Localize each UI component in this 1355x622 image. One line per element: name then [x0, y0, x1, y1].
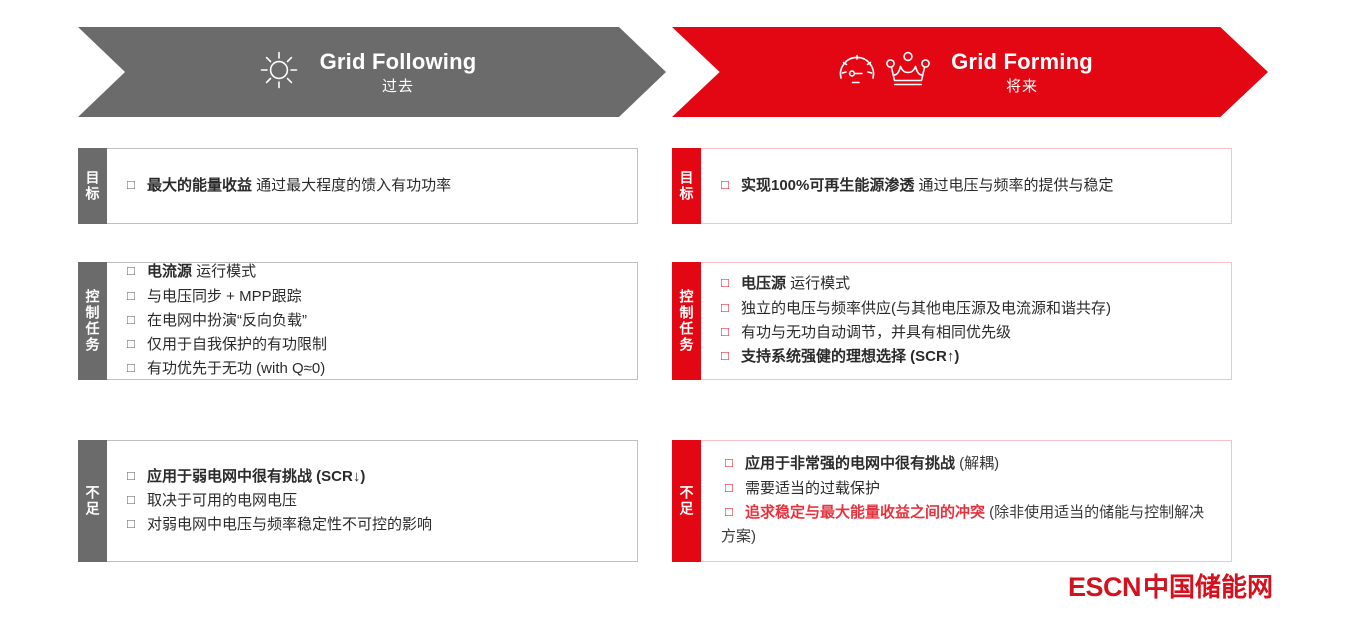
list-item: □ 应用于弱电网中很有挑战 (SCR↓) [127, 465, 623, 489]
banner-subtitle: 过去 [382, 78, 414, 96]
box-left-drawbacks: 不足 □ 应用于弱电网中很有挑战 (SCR↓) □ 取决于可用的电网电压 □ 对… [78, 440, 638, 562]
list-item: □ 实现100%可再生能源渗透 通过电压与频率的提供与稳定 [721, 174, 1217, 198]
list-item: □ 有功优先于无功 (with Q≈0) [127, 357, 623, 381]
list-item-text: 仅用于自我保护的有功限制 [147, 333, 623, 357]
list-item-rest: 在电网中扮演“反向负载” [147, 312, 307, 329]
list-item-rest: 有功与无功自动调节，并具有相同优先级 [741, 324, 1011, 341]
box-right-goal: 目标 □ 实现100%可再生能源渗透 通过电压与频率的提供与稳定 [672, 148, 1232, 224]
list-item: □ 电流源 运行模式 [127, 260, 623, 284]
box-right-control-tasks: 控制任务 □ 电压源 运行模式 □ 独立的电压与频率供应(与其他电压源及电流源和… [672, 262, 1232, 380]
list-item-text: 取决于可用的电网电压 [147, 489, 623, 513]
list-item-rest: 运行模式 [786, 275, 850, 292]
list-item-rest: 需要适当的过载保护 [745, 480, 880, 497]
list-item: □ 独立的电压与频率供应(与其他电压源及电流源和谐共存) [721, 297, 1217, 321]
list-item-text: 在电网中扮演“反向负载” [147, 309, 623, 333]
list-item: □ 需要适当的过载保护 [725, 477, 1217, 501]
list-item-bold: 最大的能量收益 [147, 177, 252, 194]
crown-icon [883, 48, 933, 97]
box-body: □ 电流源 运行模式 □ 与电压同步 + MPP跟踪 □ 在电网中扮演“反向负载… [107, 263, 637, 379]
banner-title: Grid Following [320, 49, 477, 75]
list-item-text: 电压源 运行模式 [741, 272, 1217, 296]
list-item: □ 取决于可用的电网电压 [127, 489, 623, 513]
list-item-text: 应用于非常强的电网中很有挑战 (解耦) [745, 452, 1217, 476]
list-item-text: 独立的电压与频率供应(与其他电压源及电流源和谐共存) [741, 297, 1217, 321]
list-item-bold: 应用于非常强的电网中很有挑战 [745, 455, 955, 472]
list-item: □ 应用于非常强的电网中很有挑战 (解耦) [725, 452, 1217, 476]
list-item: □ 支持系统强健的理想选择 (SCR↑) [721, 345, 1217, 369]
logo-chinese-text: 中国储能网 [1143, 567, 1273, 604]
bullet-icon: □ [721, 345, 741, 366]
sun-icon [256, 47, 302, 98]
escn-logo: ESCN 中国储能网 [1068, 567, 1273, 604]
box-body: □ 最大的能量收益 通过最大程度的馈入有功功率 [107, 149, 637, 223]
bullet-icon: □ [127, 513, 147, 534]
list-item: □ 追求稳定与最大能量收益之间的冲突 (除非使用适当的储能与控制解决方案) [701, 501, 1217, 550]
box-left-control-tasks: 控制任务 □ 电流源 运行模式 □ 与电压同步 + MPP跟踪 □ 在电网中扮演… [78, 262, 638, 380]
bullet-icon: □ [725, 452, 745, 473]
tab-left-goal: 目标 [78, 148, 107, 224]
bullet-icon: □ [127, 333, 147, 354]
banner-icon-group [835, 48, 933, 97]
bullet-icon: □ [127, 174, 147, 195]
list-item-bold: 应用于弱电网中很有挑战 (SCR↓) [147, 468, 365, 485]
bullet-icon: □ [127, 260, 147, 281]
tab-left-control-tasks: 控制任务 [78, 262, 107, 380]
banner-title: Grid Forming [951, 49, 1093, 75]
tab-label: 不足 [680, 485, 694, 517]
list-item-rest: 有功优先于无功 (with Q≈0) [147, 360, 325, 377]
tab-label: 目标 [86, 170, 100, 202]
banner-content: Grid Forming 将来 [835, 48, 1093, 97]
list-item-text: 电流源 运行模式 [147, 260, 623, 284]
banner-subtitle: 将来 [1006, 78, 1038, 96]
list-item-text: 需要适当的过载保护 [745, 477, 1217, 501]
tab-right-drawbacks: 不足 [672, 440, 701, 562]
bullet-icon: □ [127, 357, 147, 378]
list-item: □ 在电网中扮演“反向负载” [127, 309, 623, 333]
list-item-rest: 与电压同步 + MPP跟踪 [147, 288, 302, 305]
bullet-icon: □ [721, 174, 741, 195]
list-item: □ 与电压同步 + MPP跟踪 [127, 285, 623, 309]
list-item-highlight: 追求稳定与最大能量收益之间的冲突 [745, 504, 985, 521]
banner-text-block: Grid Forming 将来 [951, 49, 1093, 96]
bullet-icon: □ [721, 321, 741, 342]
box-left-goal: 目标 □ 最大的能量收益 通过最大程度的馈入有功功率 [78, 148, 638, 224]
list-item: □ 电压源 运行模式 [721, 272, 1217, 296]
bullet-icon: □ [725, 477, 745, 498]
list-item: □ 对弱电网中电压与频率稳定性不可控的影响 [127, 513, 623, 537]
box-body: □ 电压源 运行模式 □ 独立的电压与频率供应(与其他电压源及电流源和谐共存) … [701, 263, 1231, 379]
list-item-rest: 仅用于自我保护的有功限制 [147, 336, 327, 353]
list-item-text: 对弱电网中电压与频率稳定性不可控的影响 [147, 513, 623, 537]
tab-label: 控制任务 [680, 289, 694, 353]
list-item-text: 支持系统强健的理想选择 (SCR↑) [741, 345, 1217, 369]
banner-text-block: Grid Following 过去 [320, 49, 477, 96]
list-item: □ 最大的能量收益 通过最大程度的馈入有功功率 [127, 174, 623, 198]
list-item-text: 应用于弱电网中很有挑战 (SCR↓) [147, 465, 623, 489]
logo-escn-text: ESCN [1068, 572, 1141, 603]
bullet-icon: □ [127, 309, 147, 330]
list-item-text: 有功优先于无功 (with Q≈0) [147, 357, 623, 381]
tab-left-drawbacks: 不足 [78, 440, 107, 562]
bullet-icon: □ [721, 297, 741, 318]
banner-icon-group [256, 47, 302, 98]
list-item-rest: 通过电压与频率的提供与稳定 [914, 177, 1113, 194]
banner-grid-following: Grid Following 过去 [78, 27, 666, 117]
list-item-rest: 通过最大程度的馈入有功功率 [252, 177, 451, 194]
list-item-bold: 电压源 [741, 275, 786, 292]
list-item-rest: (解耦) [955, 455, 999, 472]
banner-content: Grid Following 过去 [256, 47, 477, 98]
list-item-text: 有功与无功自动调节，并具有相同优先级 [741, 321, 1217, 345]
list-item-rest: 运行模式 [192, 263, 256, 280]
list-item-text: 追求稳定与最大能量收益之间的冲突 (除非使用适当的储能与控制解决方案) [721, 501, 1217, 550]
tab-right-goal: 目标 [672, 148, 701, 224]
tab-label: 不足 [86, 485, 100, 517]
tab-right-control-tasks: 控制任务 [672, 262, 701, 380]
list-item-bold: 支持系统强健的理想选择 (SCR↑) [741, 348, 959, 365]
list-item: □ 有功与无功自动调节，并具有相同优先级 [721, 321, 1217, 345]
bullet-icon: □ [127, 489, 147, 510]
banner-grid-forming: Grid Forming 将来 [672, 27, 1268, 117]
list-item-text: 最大的能量收益 通过最大程度的馈入有功功率 [147, 174, 623, 198]
box-body: □ 应用于弱电网中很有挑战 (SCR↓) □ 取决于可用的电网电压 □ 对弱电网… [107, 441, 637, 561]
bullet-icon: □ [127, 465, 147, 486]
list-item-bold: 电流源 [147, 263, 192, 280]
box-body: □ 实现100%可再生能源渗透 通过电压与频率的提供与稳定 [701, 149, 1231, 223]
gauge-icon [835, 48, 879, 97]
list-item: □ 仅用于自我保护的有功限制 [127, 333, 623, 357]
list-item-rest: 对弱电网中电压与频率稳定性不可控的影响 [147, 516, 432, 533]
tab-label: 目标 [680, 170, 694, 202]
box-right-drawbacks: 不足 □ 应用于非常强的电网中很有挑战 (解耦) □ 需要适当的过载保护 □ 追… [672, 440, 1232, 562]
list-item-text: 与电压同步 + MPP跟踪 [147, 285, 623, 309]
box-body: □ 应用于非常强的电网中很有挑战 (解耦) □ 需要适当的过载保护 □ 追求稳定… [701, 441, 1231, 561]
bullet-icon: □ [127, 285, 147, 306]
list-item-text: 实现100%可再生能源渗透 通过电压与频率的提供与稳定 [741, 174, 1217, 198]
list-item-bold: 实现100%可再生能源渗透 [741, 177, 914, 194]
bullet-icon: □ [721, 272, 741, 293]
list-item-rest: 取决于可用的电网电压 [147, 492, 297, 509]
list-item-rest: 独立的电压与频率供应(与其他电压源及电流源和谐共存) [741, 300, 1111, 317]
tab-label: 控制任务 [86, 289, 100, 353]
